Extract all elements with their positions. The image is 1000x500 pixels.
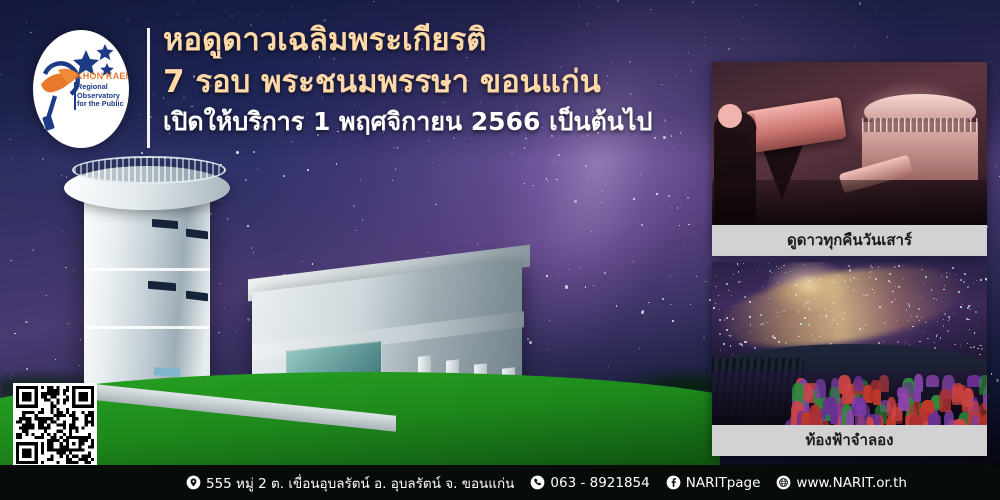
- telescope-tube: [745, 97, 846, 154]
- footer-address: 555 หมู่ 2 ต. เขื่อนอุบลรัตน์ อ. อุบลรัต…: [186, 472, 514, 494]
- dome-rail: [862, 118, 978, 132]
- tower-band: [84, 326, 210, 329]
- footer-contact-row: 555 หมู่ 2 ต. เขื่อนอุบลรัตน์ อ. อุบลรัต…: [186, 465, 907, 500]
- logo-brand-text: KHON KAEN: [76, 71, 129, 81]
- logo-subtitle-line3: for the Public: [77, 99, 124, 108]
- thumbnail-caption-planetarium: ท้องฟ้าจำลอง: [712, 425, 987, 456]
- headline-line-2: 7 รอบ พระชนมพรรษา ขอนแก่น: [163, 60, 703, 104]
- headline-line-1: หอดูดาวเฉลิมพระเกียรติ: [163, 20, 703, 60]
- tower-band: [84, 268, 210, 271]
- footer-facebook-text: NARITpage: [686, 475, 761, 491]
- logo-divider: [74, 82, 76, 110]
- logo-subtitle: RegionalObservatoryfor the Public: [77, 83, 124, 109]
- footer-phone-text: 063 - 8921854: [550, 475, 649, 491]
- tower-observation-rail: [72, 156, 226, 184]
- tower-window: [154, 367, 180, 377]
- observer-head: [718, 104, 742, 128]
- footer-phone: 063 - 8921854: [530, 475, 649, 491]
- foreground-crowd: [712, 180, 987, 225]
- title-divider-bar: [147, 28, 150, 148]
- thumbnail-card-stargazing[interactable]: ดูดาวทุกคืนวันเสาร์: [712, 62, 987, 256]
- globe-icon: [776, 475, 791, 490]
- qr-code-icon: [16, 386, 94, 464]
- footer-facebook[interactable]: NARITpage: [666, 475, 761, 491]
- footer-bar: 555 หมู่ 2 ต. เขื่อนอุบลรัตน์ อ. อุบลรัต…: [0, 465, 1000, 500]
- thumbnail-card-planetarium[interactable]: ท้องฟ้าจำลอง: [712, 262, 987, 456]
- thumbnail-caption-stargazing: ดูดาวทุกคืนวันเสาร์: [712, 225, 987, 256]
- facebook-icon: [666, 475, 681, 490]
- footer-website-text: www.NARIT.or.th: [796, 475, 907, 491]
- footer-address-text: 555 หมู่ 2 ต. เขื่อนอุบลรัตน์ อ. อุบลรัต…: [206, 472, 514, 494]
- map-qr-code[interactable]: [13, 383, 97, 467]
- khon-kaen-observatory-logo: KHON KAEN RegionalObservatoryfor the Pub…: [33, 30, 129, 148]
- stargazing-photo: [712, 62, 987, 225]
- phone-icon: [530, 475, 545, 490]
- observatory-building-artwork: [0, 150, 720, 470]
- planetarium-photo: [712, 262, 987, 425]
- location-pin-icon: [186, 475, 201, 490]
- audience-seating: [712, 370, 987, 425]
- footer-website[interactable]: www.NARIT.or.th: [776, 475, 907, 491]
- headline-block: หอดูดาวเฉลิมพระเกียรติ 7 รอบ พระชนมพรรษา…: [163, 20, 703, 140]
- headline-line-3: เปิดให้บริการ 1 พฤศจิกายน 2566 เป็นต้นไป: [163, 104, 703, 140]
- observatory-promo-banner: KHON KAEN RegionalObservatoryfor the Pub…: [0, 0, 1000, 500]
